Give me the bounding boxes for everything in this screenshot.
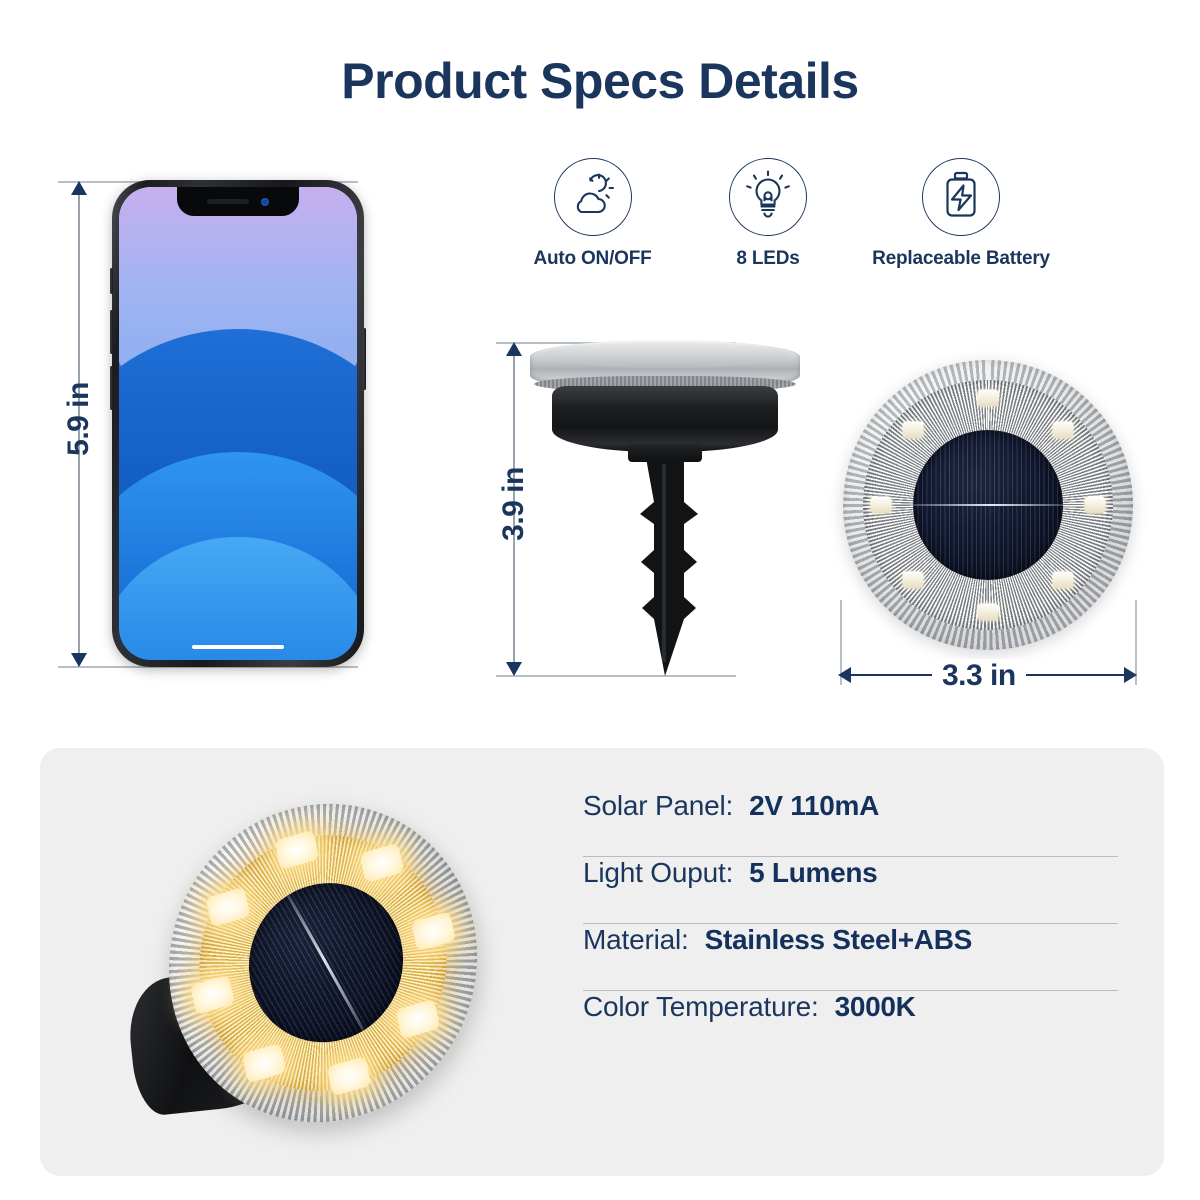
led-lit [190, 974, 235, 1014]
led-module [903, 571, 924, 588]
light-housing-body [552, 386, 778, 452]
led-module [977, 604, 998, 621]
arrow-up-icon [71, 181, 87, 195]
led-module [903, 422, 924, 439]
spec-row: Material: Stainless Steel+ABS [583, 924, 1123, 990]
spec-label: Material: [583, 924, 689, 956]
led-module [1052, 571, 1073, 588]
phone-height-label: 5.9 in [62, 364, 96, 474]
led-lit [326, 1056, 371, 1096]
spec-label: Light Ouput: [583, 857, 733, 889]
led-module [1085, 496, 1106, 513]
spec-value: Stainless Steel+ABS [705, 924, 972, 956]
rim-top-surface [542, 342, 788, 368]
led-module [870, 496, 891, 513]
led-lit [274, 830, 319, 870]
ground-stake-spike [616, 458, 714, 676]
page-title: Product Specs Details [0, 52, 1200, 110]
led-lit [205, 886, 250, 926]
feature-label: Replaceable Battery [832, 248, 1090, 270]
led-lit [359, 842, 404, 882]
feature-auto-on-off: Auto ON/OFF [480, 158, 705, 270]
feature-label: Auto ON/OFF [480, 248, 705, 270]
front-camera-icon [261, 198, 269, 206]
spec-table: Solar Panel: 2V 110mA Light Ouput: 5 Lum… [583, 790, 1123, 1057]
feature-8-leds: 8 LEDs [678, 158, 858, 270]
feature-icon-circle [554, 158, 632, 236]
led-lit [395, 999, 440, 1039]
earpiece-speaker-icon [207, 199, 249, 204]
arrow-right-icon [1124, 667, 1137, 683]
solar-light-top-view [843, 360, 1133, 650]
led-module [1052, 422, 1073, 439]
battery-bolt-icon [940, 170, 982, 225]
sun-cloud-icon [568, 172, 618, 223]
phone-volume-up-button [110, 310, 113, 354]
feature-list: Auto ON/OFF 8 LEDs [480, 158, 1090, 288]
feature-replaceable-battery: Replaceable Battery [832, 158, 1090, 270]
spec-label: Color Temperature: [583, 991, 819, 1023]
feature-icon-circle [922, 158, 1000, 236]
spec-value: 2V 110mA [749, 790, 879, 822]
hero-product-photo [125, 798, 485, 1128]
light-bulb-icon [745, 170, 791, 225]
solar-light-side-view [520, 340, 810, 676]
phone-power-button [363, 328, 366, 390]
led-lit [411, 911, 456, 951]
spec-label: Solar Panel: [583, 790, 733, 822]
home-indicator [192, 645, 284, 649]
led-module [977, 389, 998, 406]
feature-icon-circle [729, 158, 807, 236]
product-spec-infographic: Product Specs Details Auto ON/OFF [0, 0, 1200, 1200]
spec-row: Solar Panel: 2V 110mA [583, 790, 1123, 856]
phone-screen [119, 187, 357, 660]
solar-panel-busbar [913, 504, 1064, 506]
phone-notch [177, 187, 299, 216]
phone-size-reference [112, 180, 364, 667]
phone-mute-switch [110, 268, 113, 294]
spec-value: 5 Lumens [749, 857, 877, 889]
led-lit [242, 1043, 287, 1083]
light-diameter-label: 3.3 in [932, 659, 1026, 693]
feature-label: 8 LEDs [678, 248, 858, 270]
phone-volume-down-button [110, 366, 113, 410]
arrow-down-icon [71, 653, 87, 667]
spec-value: 3000K [835, 991, 916, 1023]
spec-row: Light Ouput: 5 Lumens [583, 857, 1123, 923]
spec-row: Color Temperature: 3000K [583, 991, 1123, 1057]
arrow-left-icon [838, 667, 851, 683]
